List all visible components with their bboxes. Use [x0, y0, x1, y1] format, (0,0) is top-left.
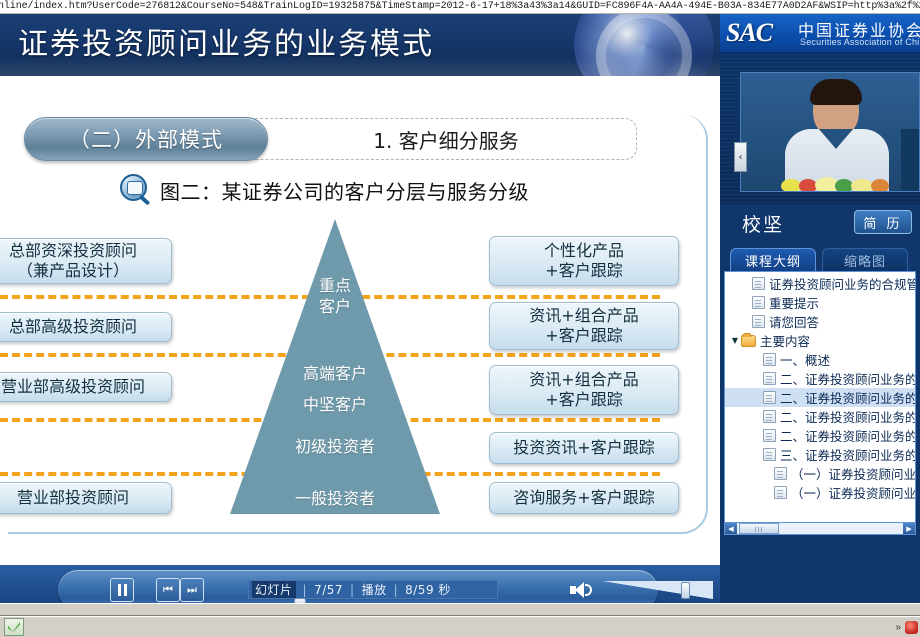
- outline-item-label: 三、证券投资顾问业务的合规管理: [780, 445, 916, 464]
- previous-icon: ⏮: [163, 584, 173, 597]
- outline-item-label: （一）证券投资顾问业务的合规: [791, 483, 916, 502]
- pause-icon: [118, 584, 121, 596]
- outline-item-label: 二、证券投资顾问业务的业务模式: [780, 407, 916, 426]
- left-box-2: 总部高级投资顾问: [0, 312, 172, 342]
- video-side-object: [901, 129, 919, 192]
- scroll-right-arrow[interactable]: ▶: [903, 523, 915, 534]
- course-outline-tree[interactable]: 证券投资顾问业务的合规管理重要提示请您回答▼主要内容一、概述二、证券投资顾问业务…: [724, 271, 916, 533]
- document-icon: [774, 467, 787, 480]
- pyramid-label-6: 一般投资者: [255, 485, 415, 509]
- pyramid-label-3: 高端客户: [270, 360, 400, 384]
- sac-brand-en: Securities Association of China: [800, 37, 920, 47]
- window-bottom-gap: [0, 603, 920, 615]
- document-icon: [763, 372, 776, 385]
- left-box-3: 营业部高级投资顾问: [0, 372, 172, 402]
- player-window: nline/index.htm?UserCode=276812&CourseNo…: [0, 0, 920, 637]
- tab-thumbnails[interactable]: 缩略图: [822, 248, 908, 272]
- address-bar-url: nline/index.htm?UserCode=276812&CourseNo…: [0, 0, 920, 13]
- scroll-left-arrow[interactable]: ◀: [725, 523, 737, 534]
- right-box-4: 投资资讯+客户跟踪: [489, 432, 679, 464]
- sac-logo: SAC: [726, 18, 772, 48]
- excel-icon[interactable]: [4, 618, 24, 636]
- left-box-1: 总部资深投资顾问 （兼产品设计）: [0, 238, 172, 284]
- slide-stage: 证券投资顾问业务的业务模式 1. 客户细分服务 （二）外部模式 图二：某证券公司…: [0, 14, 720, 565]
- right-box-2: 资讯+组合产品 +客户跟踪: [489, 302, 679, 350]
- outline-item-label: 一、概述: [780, 350, 830, 369]
- outline-item[interactable]: 三、证券投资顾问业务的合规管理: [725, 445, 916, 464]
- outline-item[interactable]: 二、证券投资顾问业务的业务模式: [725, 369, 916, 388]
- sidebar-tabs: 课程大纲 缩略图: [724, 248, 920, 272]
- right-sidebar: SAC 中国证券业协会 Securities Association of Ch…: [720, 14, 920, 603]
- right-box-3: 资讯+组合产品 +客户跟踪: [489, 365, 679, 415]
- outline-item[interactable]: 请您回答: [725, 312, 916, 331]
- status-sep-1: |: [303, 583, 308, 597]
- presenter-info-row: 校坚 简 历: [720, 204, 920, 246]
- scroll-thumb[interactable]: [739, 523, 779, 534]
- outline-item-label: 重要提示: [769, 293, 819, 312]
- sidebar-collapse-icon[interactable]: ‹: [734, 142, 747, 172]
- taskbar-tray: »: [895, 617, 918, 637]
- right-box-1: 个性化产品 +客户跟踪: [489, 236, 679, 286]
- outline-item-label: 证券投资顾问业务的合规管理: [769, 274, 916, 293]
- outline-item-label: 请您回答: [769, 312, 819, 331]
- next-icon: ⏭: [187, 584, 197, 597]
- document-icon: [763, 448, 776, 461]
- document-icon: [763, 429, 776, 442]
- volume-track: [603, 581, 713, 599]
- outline-item[interactable]: （一）证券投资顾问业务的合规: [725, 464, 916, 483]
- flower-arrangement: [777, 165, 901, 192]
- presenter-cv-button[interactable]: 简 历: [854, 210, 912, 234]
- outline-item-label: 主要内容: [760, 331, 810, 350]
- outline-item[interactable]: ▼主要内容: [725, 331, 916, 350]
- slide-counter: 7/57: [314, 583, 343, 597]
- pyramid-label-2: 客户: [280, 293, 390, 317]
- document-icon: [763, 353, 776, 366]
- document-icon: [752, 277, 765, 290]
- overflow-chevron-icon[interactable]: »: [895, 622, 901, 633]
- document-icon: [763, 391, 776, 404]
- os-taskbar: »: [0, 615, 920, 637]
- tab-course-outline[interactable]: 课程大纲: [730, 248, 816, 272]
- folder-icon: [741, 335, 756, 347]
- pyramid-label-4: 中坚客户: [270, 391, 400, 415]
- pause-button[interactable]: [110, 578, 134, 602]
- pyramid-label-5: 初级投资者: [260, 433, 410, 457]
- time-readout: 8/59 秒: [405, 581, 451, 598]
- presenter-video-area: ‹: [720, 54, 920, 204]
- outline-horizontal-scrollbar[interactable]: ◀ ▶: [724, 522, 916, 535]
- outline-item[interactable]: 重要提示: [725, 293, 916, 312]
- volume-slider-handle[interactable]: [681, 582, 690, 599]
- document-icon: [752, 296, 765, 309]
- next-slide-button[interactable]: ⏭: [180, 578, 204, 602]
- scroll-track[interactable]: [737, 523, 903, 534]
- course-player-frame: 证券投资顾问业务的业务模式 1. 客户细分服务 （二）外部模式 图二：某证券公司…: [0, 14, 920, 603]
- address-bar[interactable]: nline/index.htm?UserCode=276812&CourseNo…: [0, 0, 920, 14]
- right-box-5: 咨询服务+客户跟踪: [489, 482, 679, 514]
- outline-item[interactable]: 二、证券投资顾问业务的业务模式: [725, 407, 916, 426]
- outline-item-label: 二、证券投资顾问业务的业务模式: [780, 369, 916, 388]
- volume-slider[interactable]: [603, 580, 713, 600]
- status-sep-2: |: [350, 583, 355, 597]
- outline-item[interactable]: 一、概述: [725, 350, 916, 369]
- chevron-down-icon[interactable]: ▼: [729, 336, 741, 345]
- outline-item-label: （一）证券投资顾问业务的合规: [791, 464, 916, 483]
- presenter-name: 校坚: [742, 210, 784, 237]
- presenter-video[interactable]: [740, 72, 920, 192]
- sac-brand-header: SAC 中国证券业协会 Securities Association of Ch…: [720, 14, 920, 54]
- outline-item[interactable]: 二、证券投资顾问业务的业务模式: [725, 426, 916, 445]
- outline-item[interactable]: （一）证券投资顾问业务的合规: [725, 483, 916, 502]
- outline-item[interactable]: 二、证券投资顾问业务的业务模式: [725, 388, 916, 407]
- speaker-icon[interactable]: [570, 582, 592, 598]
- player-status-bar: 幻灯片 | 7/57 | 播放 | 8/59 秒: [248, 580, 498, 599]
- red-tray-icon[interactable]: [905, 621, 918, 634]
- document-icon: [752, 315, 765, 328]
- outline-item[interactable]: 证券投资顾问业务的合规管理: [725, 274, 916, 293]
- status-sep-3: |: [394, 583, 399, 597]
- document-icon: [774, 486, 787, 499]
- previous-slide-button[interactable]: ⏮: [156, 578, 180, 602]
- outline-item-label: 二、证券投资顾问业务的业务模式: [780, 388, 916, 407]
- outline-item-label: 二、证券投资顾问业务的业务模式: [780, 426, 916, 445]
- left-box-4: 营业部投资顾问: [0, 482, 172, 514]
- status-label: 幻灯片: [252, 581, 296, 598]
- play-state: 播放: [362, 581, 387, 598]
- document-icon: [763, 410, 776, 423]
